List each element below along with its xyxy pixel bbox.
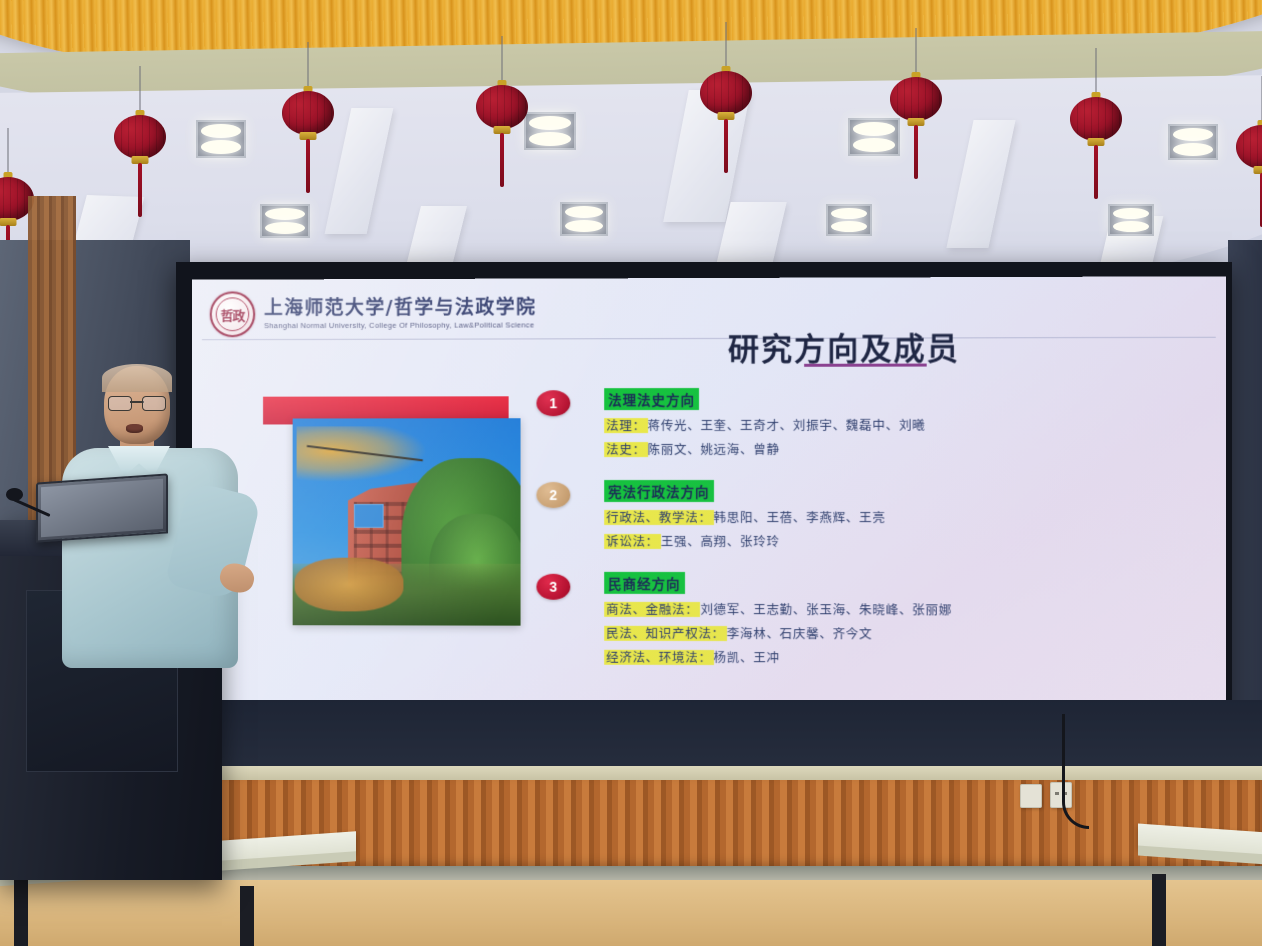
university-name-en: Shanghai Normal University, College Of P… xyxy=(264,321,536,331)
direction-line-label: 法史： xyxy=(604,442,647,457)
presenter-mouth xyxy=(126,424,143,433)
direction-line-label: 经济法、环境法： xyxy=(604,650,713,665)
direction-line: 法史：陈丽文、姚远海、曾静 xyxy=(604,439,1226,459)
photo-autumn-tree xyxy=(295,558,404,612)
ceiling-light xyxy=(1168,124,1218,160)
slide-title: 研究方向及成员 xyxy=(728,323,960,369)
photo-building-windows xyxy=(354,504,384,528)
direction-line-names: 蒋传光、王奎、王奇才、刘振宇、魏磊中、刘曦 xyxy=(648,418,926,433)
seal-glyph: 哲政 xyxy=(212,293,253,335)
direction-line: 法理：蒋传光、王奎、王奇才、刘振宇、魏磊中、刘曦 xyxy=(604,414,1226,434)
direction-line-names: 杨凯、王冲 xyxy=(714,650,780,665)
direction-line: 经济法、环境法：杨凯、王冲 xyxy=(604,647,1226,668)
ceiling-light xyxy=(826,204,872,236)
lecture-hall-scene: 哲政 上海师范大学/哲学与法政学院 Shanghai Normal Univer… xyxy=(0,0,1262,946)
ceiling-light xyxy=(1108,204,1154,236)
direction-line: 商法、金融法：刘德军、王志勤、张玉海、朱晓峰、张丽娜 xyxy=(604,599,1226,619)
direction-heading: 民商经方向 xyxy=(604,572,684,594)
direction-badge: 2 xyxy=(536,482,570,508)
projection-screen[interactable]: 哲政 上海师范大学/哲学与法政学院 Shanghai Normal Univer… xyxy=(192,276,1226,719)
direction-row: 3 民商经方向 商法、金融法：刘德军、王志勤、张玉海、朱晓峰、张丽娜 民法、知识… xyxy=(536,572,1225,668)
campus-building-photo xyxy=(293,418,521,625)
ceiling-light xyxy=(560,202,608,236)
ceiling-light xyxy=(524,112,576,150)
direction-line-names: 李海林、石庆馨、齐今文 xyxy=(727,626,873,641)
ceiling-light xyxy=(848,118,900,156)
direction-row: 1 法理法史方向 法理：蒋传光、王奎、王奇才、刘振宇、魏磊中、刘曦 法史：陈丽文… xyxy=(536,387,1225,458)
direction-line-label: 行政法、教学法： xyxy=(604,510,713,525)
direction-badge: 1 xyxy=(536,390,570,416)
direction-line-label: 民法、知识产权法： xyxy=(604,626,727,641)
direction-line-label: 诉讼法： xyxy=(604,534,661,549)
research-directions-list: 1 法理法史方向 法理：蒋传光、王奎、王奇才、刘振宇、魏磊中、刘曦 法史：陈丽文… xyxy=(536,387,1225,689)
photo-ginkgo-branch xyxy=(297,426,428,482)
direction-line-names: 陈丽文、姚远海、曾静 xyxy=(648,442,780,457)
direction-line-label: 商法、金融法： xyxy=(604,602,700,617)
power-cable xyxy=(1062,714,1089,829)
direction-row: 2 宪法行政法方向 行政法、教学法：韩思阳、王蓓、李燕辉、王亮 诉讼法：王强、高… xyxy=(536,480,1225,551)
direction-heading: 法理法史方向 xyxy=(604,388,699,410)
slide-header: 哲政 上海师范大学/哲学与法政学院 Shanghai Normal Univer… xyxy=(210,291,537,338)
direction-line-names: 刘德军、王志勤、张玉海、朱晓峰、张丽娜 xyxy=(700,602,952,617)
table-right xyxy=(1138,830,1262,946)
direction-badge: 3 xyxy=(536,574,570,600)
ceiling-light xyxy=(260,204,310,238)
microphone[interactable] xyxy=(6,488,52,534)
laptop[interactable] xyxy=(36,473,168,542)
eyeglasses-icon xyxy=(108,396,166,409)
presenter-hair xyxy=(102,364,172,392)
direction-line: 行政法、教学法：韩思阳、王蓓、李燕辉、王亮 xyxy=(604,507,1226,526)
header-divider xyxy=(202,337,1216,340)
direction-line-names: 韩思阳、王蓓、李燕辉、王亮 xyxy=(714,510,886,525)
wall-outlet[interactable] xyxy=(1020,784,1042,808)
ceiling-light xyxy=(196,120,246,158)
university-name-cn: 上海师范大学/哲学与法政学院 xyxy=(264,297,536,320)
direction-heading: 宪法行政法方向 xyxy=(604,480,713,502)
direction-line: 诉讼法：王强、高翔、张玲玲 xyxy=(604,531,1226,550)
slide-photo-block xyxy=(263,396,521,625)
university-seal-icon: 哲政 xyxy=(210,291,255,337)
direction-line: 民法、知识产权法：李海林、石庆馨、齐今文 xyxy=(604,623,1226,643)
direction-line-label: 法理： xyxy=(604,418,647,433)
title-underline xyxy=(804,364,927,367)
direction-line-names: 王强、高翔、张玲玲 xyxy=(661,534,780,549)
